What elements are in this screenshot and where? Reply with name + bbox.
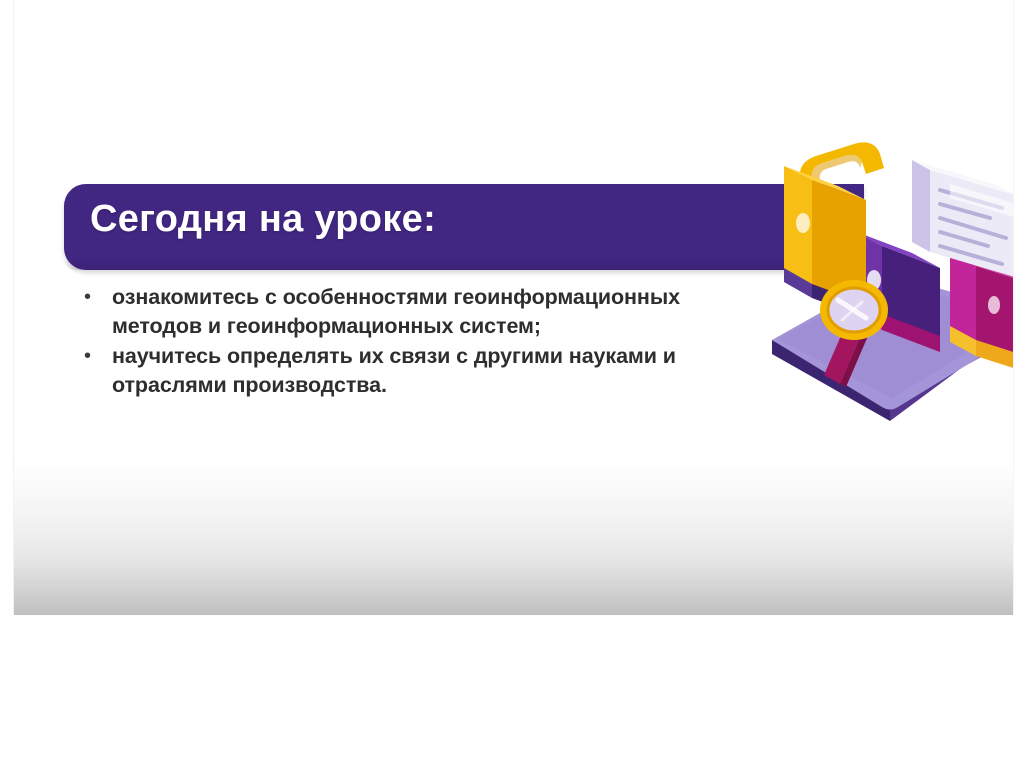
list-item: • ознакомитесь с особенностями геоинформ…: [78, 283, 758, 341]
bullet-marker-icon: •: [78, 342, 112, 371]
isometric-binders-documents-illustration: [762, 128, 1014, 428]
slide-viewer: Сегодня на уроке: • ознакомитесь с особе…: [0, 0, 1024, 767]
document-stack-icon: [912, 160, 1014, 278]
presentation-slide: Сегодня на уроке: • ознакомитесь с особе…: [13, 0, 1014, 615]
bullet-text: научитесь определять их связи с другими …: [112, 342, 758, 400]
bullet-marker-icon: •: [78, 283, 112, 312]
list-item: • научитесь определять их связи с другим…: [78, 342, 758, 400]
bullet-text: ознакомитесь с особенностями геоинформац…: [112, 283, 758, 341]
bullet-list: • ознакомитесь с особенностями геоинформ…: [78, 283, 758, 401]
title-banner-shadow: [64, 258, 864, 270]
slide-title: Сегодня на уроке:: [90, 198, 436, 241]
